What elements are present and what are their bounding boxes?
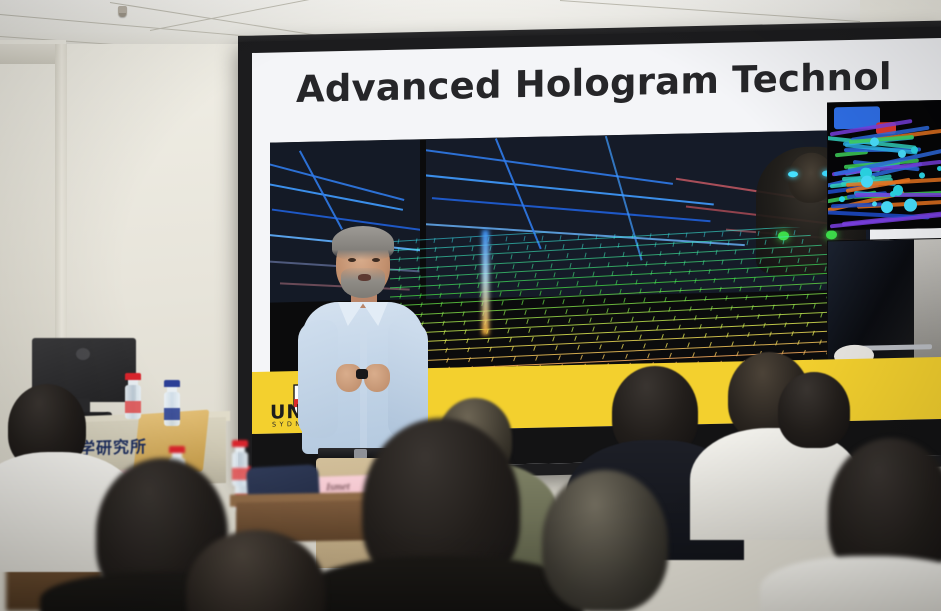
monitor-camera-icon (76, 348, 90, 360)
ceiling-beam (0, 44, 60, 64)
presenter-arm-left (298, 320, 338, 438)
water-bottle (125, 373, 141, 419)
presenter-hand-right (364, 364, 390, 392)
presenter-mouth (358, 274, 371, 281)
slide-panel-lidar (827, 100, 941, 231)
presenter-eye-right (372, 258, 380, 262)
presenter-beard (341, 268, 385, 298)
presenter-clicker (356, 369, 368, 379)
audience-head (542, 470, 668, 611)
deformation-mesh-grid (390, 225, 870, 383)
audience-head (778, 372, 850, 448)
light-beam-streak (482, 230, 489, 335)
presenter-eye-left (348, 258, 356, 262)
presenter-hair (332, 226, 394, 260)
audience-shoulders (760, 556, 941, 611)
lecture-hall-photo: Advanced Hologram Technol (0, 0, 941, 611)
water-bottle (232, 440, 248, 486)
slide-panel-photo (827, 238, 941, 365)
slide-title: Advanced Hologram Technol (296, 55, 892, 111)
water-bottle (164, 380, 180, 426)
fire-sprinkler-icon (118, 6, 127, 17)
